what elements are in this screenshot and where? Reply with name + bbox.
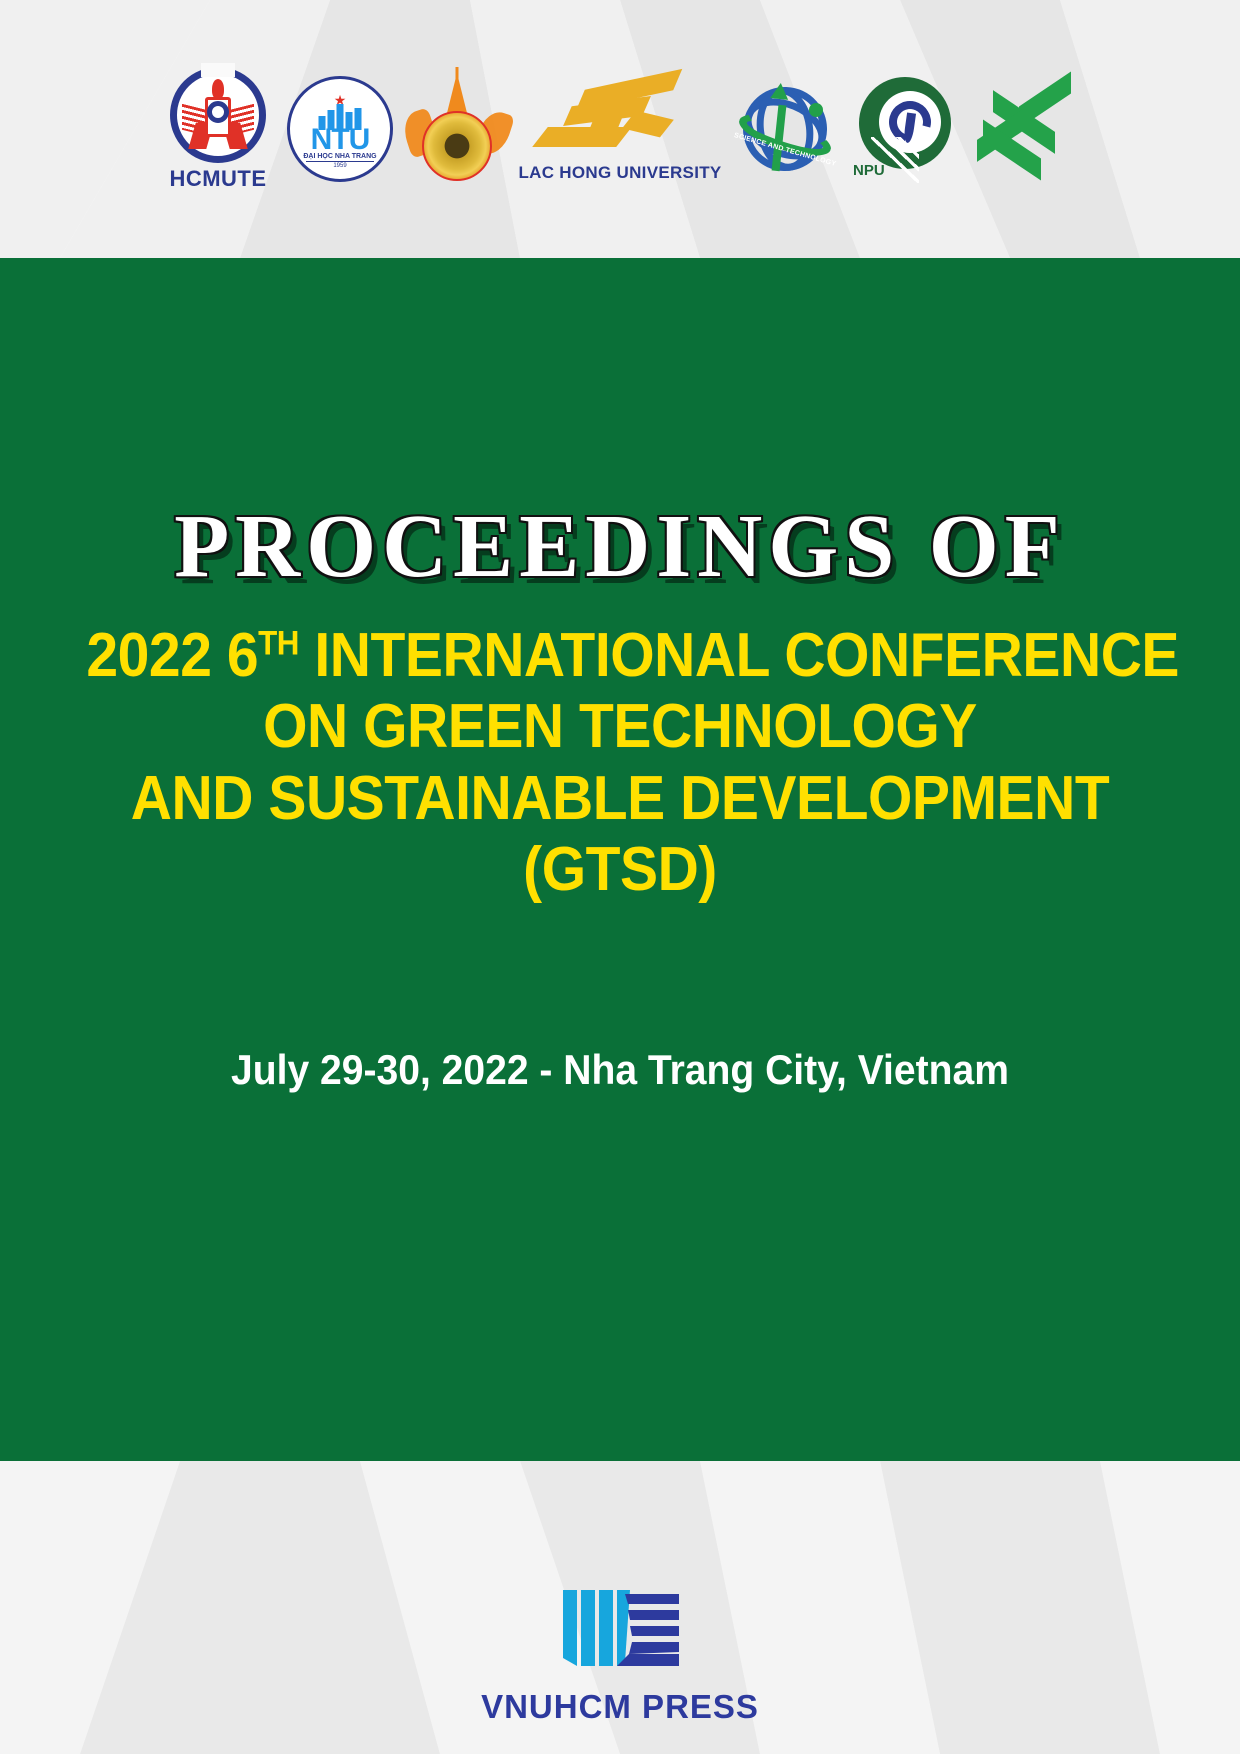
conference-title-line-1-post: INTERNATIONAL CONFERENCE — [299, 621, 1179, 690]
green-title-panel: PROCEEDINGS OF 2022 6TH INTERNATIONAL CO… — [0, 258, 1240, 1461]
green-chevron-logo — [965, 81, 1085, 177]
science-globe-icon: SCIENCE AND TECHNOLOGY — [733, 77, 837, 181]
lac-hong-university-logo: LAC HONG UNIVERSITY — [515, 75, 725, 183]
thai-university-emblem-logo — [399, 73, 515, 185]
publisher-block: VNUHCM PRESS — [0, 1584, 1240, 1726]
open-book-logo — [529, 1584, 711, 1674]
ntu-logo: ★ NTU ĐẠI HỌC NHA TRANG 1959 — [281, 76, 399, 182]
publisher-name: VNUHCM PRESS — [481, 1688, 759, 1726]
conference-date-location: July 29-30, 2022 - Nha Trang City, Vietn… — [43, 1046, 1196, 1094]
partner-logo-band: HCMUTE ★ NTU ĐẠI HỌC NHA TRANG 1959 — [0, 0, 1240, 258]
conference-title-line-1-sup: TH — [258, 624, 299, 662]
science-and-technology-logo: SCIENCE AND TECHNOLOGY — [725, 77, 845, 181]
lac-hong-label: LAC HONG UNIVERSITY — [518, 163, 721, 183]
ntu-sub-label: ĐẠI HỌC NHA TRANG — [290, 153, 390, 160]
conference-title: 2022 6TH INTERNATIONAL CONFERENCE ON GRE… — [86, 620, 1153, 905]
conference-title-line-1: 2022 6TH INTERNATIONAL CONFERENCE — [86, 620, 1153, 691]
hcmute-label: HCMUTE — [169, 166, 266, 192]
npu-emblem-icon: NPU — [853, 77, 957, 181]
conference-title-line-1-pre: 2022 6 — [86, 621, 258, 690]
green-chevron-icon — [975, 81, 1075, 177]
conference-title-line-4: (GTSD) — [86, 834, 1153, 905]
hcmute-emblem-icon — [170, 67, 266, 163]
ntu-emblem-icon: ★ NTU ĐẠI HỌC NHA TRANG 1959 — [287, 76, 393, 182]
open-book-icon — [529, 1584, 711, 1674]
page-title: PROCEEDINGS OF — [0, 502, 1240, 592]
cover-page: HCMUTE ★ NTU ĐẠI HỌC NHA TRANG 1959 — [0, 0, 1240, 1754]
thai-emblem-icon — [407, 73, 507, 185]
ntu-year: 1959 — [290, 163, 390, 169]
lac-hong-bird-icon — [540, 75, 700, 161]
conference-title-line-3: AND SUSTAINABLE DEVELOPMENT — [86, 763, 1153, 834]
ntu-letters: NTU — [290, 125, 390, 155]
conference-title-line-2: ON GREEN TECHNOLOGY — [86, 691, 1153, 762]
npu-logo: NPU — [845, 77, 965, 181]
npu-label: NPU — [853, 162, 885, 179]
hcmute-logo: HCMUTE — [155, 67, 281, 192]
